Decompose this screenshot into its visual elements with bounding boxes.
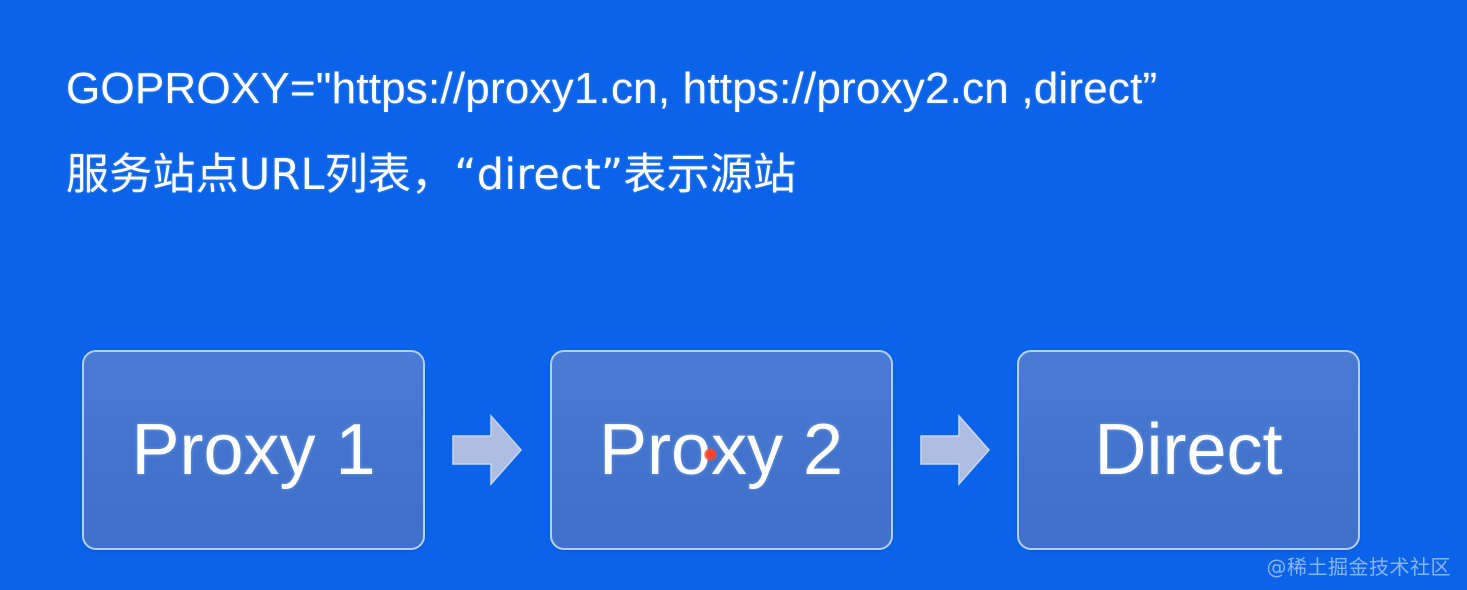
heading-line-goproxy: GOPROXY="https://proxy1.cn, https://prox… [66,46,1406,132]
arrow-right-icon [451,410,523,490]
proxy-flow-diagram: Proxy 1 Proxy 2 Direct [82,350,1360,550]
heading-text-block: GOPROXY="https://proxy1.cn, https://prox… [66,46,1406,218]
heading-line-description: 服务站点URL列表，“direct”表示源站 [66,132,1406,218]
flow-node-label: Proxy 2 [599,414,843,486]
flow-node-label: Proxy 1 [131,414,375,486]
watermark: @稀土掘金技术社区 [1267,551,1452,580]
arrow-right-icon [919,410,991,490]
flow-node-label: Direct [1094,414,1282,486]
flow-node-proxy-1[interactable]: Proxy 1 [82,350,425,550]
flow-node-proxy-2[interactable]: Proxy 2 [550,350,893,550]
slide-canvas: GOPROXY="https://proxy1.cn, https://prox… [0,0,1467,590]
laser-pointer-dot [704,448,717,461]
flow-node-direct[interactable]: Direct [1017,350,1360,550]
